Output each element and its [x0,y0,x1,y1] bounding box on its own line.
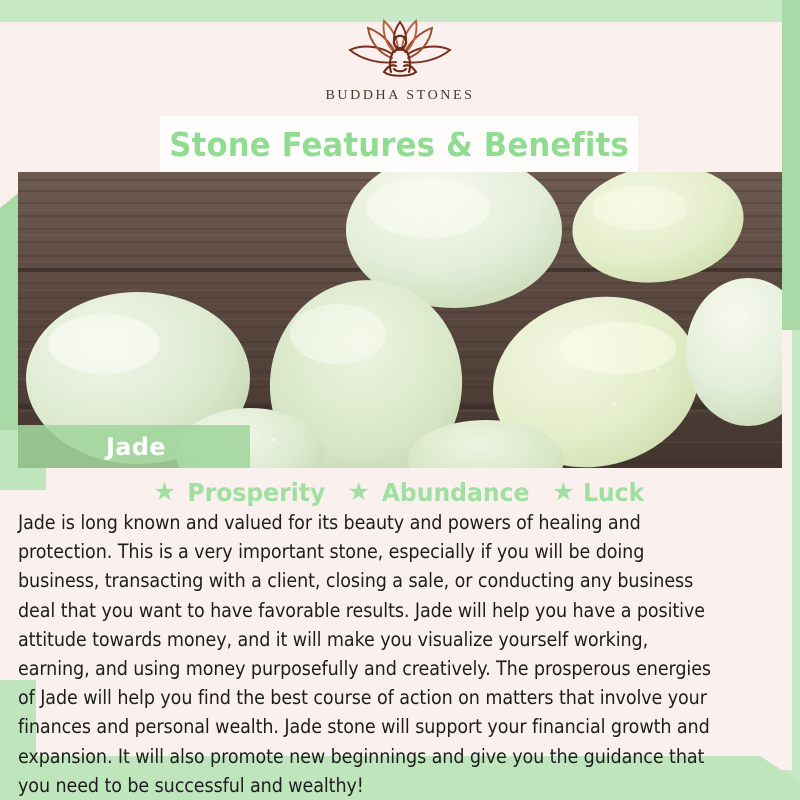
star-icon: ★ [153,480,175,505]
title-card: Stone Features & Benefits [160,116,638,172]
lotus-meditation-icon [340,16,460,82]
benefit-label: Luck [583,478,644,507]
star-icon: ★ [347,480,369,505]
stone-photo [18,172,782,468]
description-paragraph: Jade is long known and valued for its be… [18,508,711,800]
brand-wordmark: BUDDHA STONES [0,88,800,104]
stone-benefits-poster: BUDDHA STONES Stone Features & Benefits [0,0,800,800]
benefit-label: Prosperity [187,478,325,507]
benefit-item: ★ Abundance [347,478,534,507]
stone-name-bar: Jade [18,425,250,468]
star-icon: ★ [552,480,574,505]
benefit-label: Abundance [382,478,530,507]
brand-logo-block: BUDDHA STONES [0,16,800,104]
stone-name-label: Jade [106,433,166,461]
benefit-item: ★ Prosperity [153,478,329,507]
benefit-item: ★ Luck [552,478,647,507]
stone-photo-illustration [18,172,782,468]
benefits-row: ★ Prosperity ★ Abundance ★ Luck [0,478,800,507]
page-title: Stone Features & Benefits [169,125,629,164]
